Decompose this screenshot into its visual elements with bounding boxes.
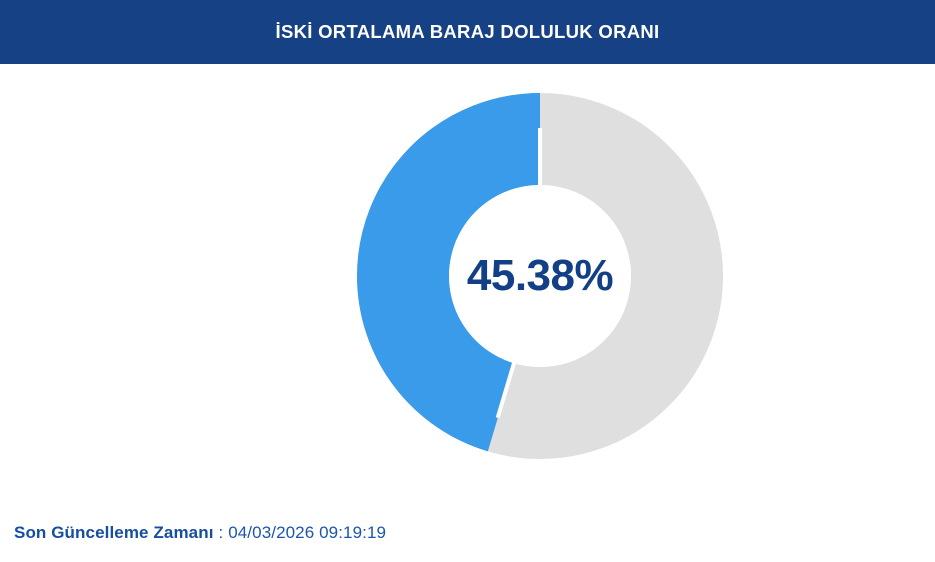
page-title: İSKİ ORTALAMA BARAJ DOLULUK ORANI [276, 23, 660, 42]
donut-chart-svg [357, 93, 723, 459]
last-update-separator: : [219, 523, 224, 542]
last-update-timestamp: 04/03/2026 09:19:19 [228, 523, 386, 542]
header-bar: İSKİ ORTALAMA BARAJ DOLULUK ORANI [0, 0, 935, 64]
last-update-row: Son Güncelleme Zamanı : 04/03/2026 09:19… [14, 518, 386, 548]
last-update-label: Son Güncelleme Zamanı [14, 523, 214, 543]
last-update-value: : 04/03/2026 09:19:19 [219, 523, 387, 543]
donut-hole [449, 185, 631, 367]
chart-area: 45.38% [0, 64, 935, 498]
donut-chart: 45.38% [357, 93, 723, 459]
